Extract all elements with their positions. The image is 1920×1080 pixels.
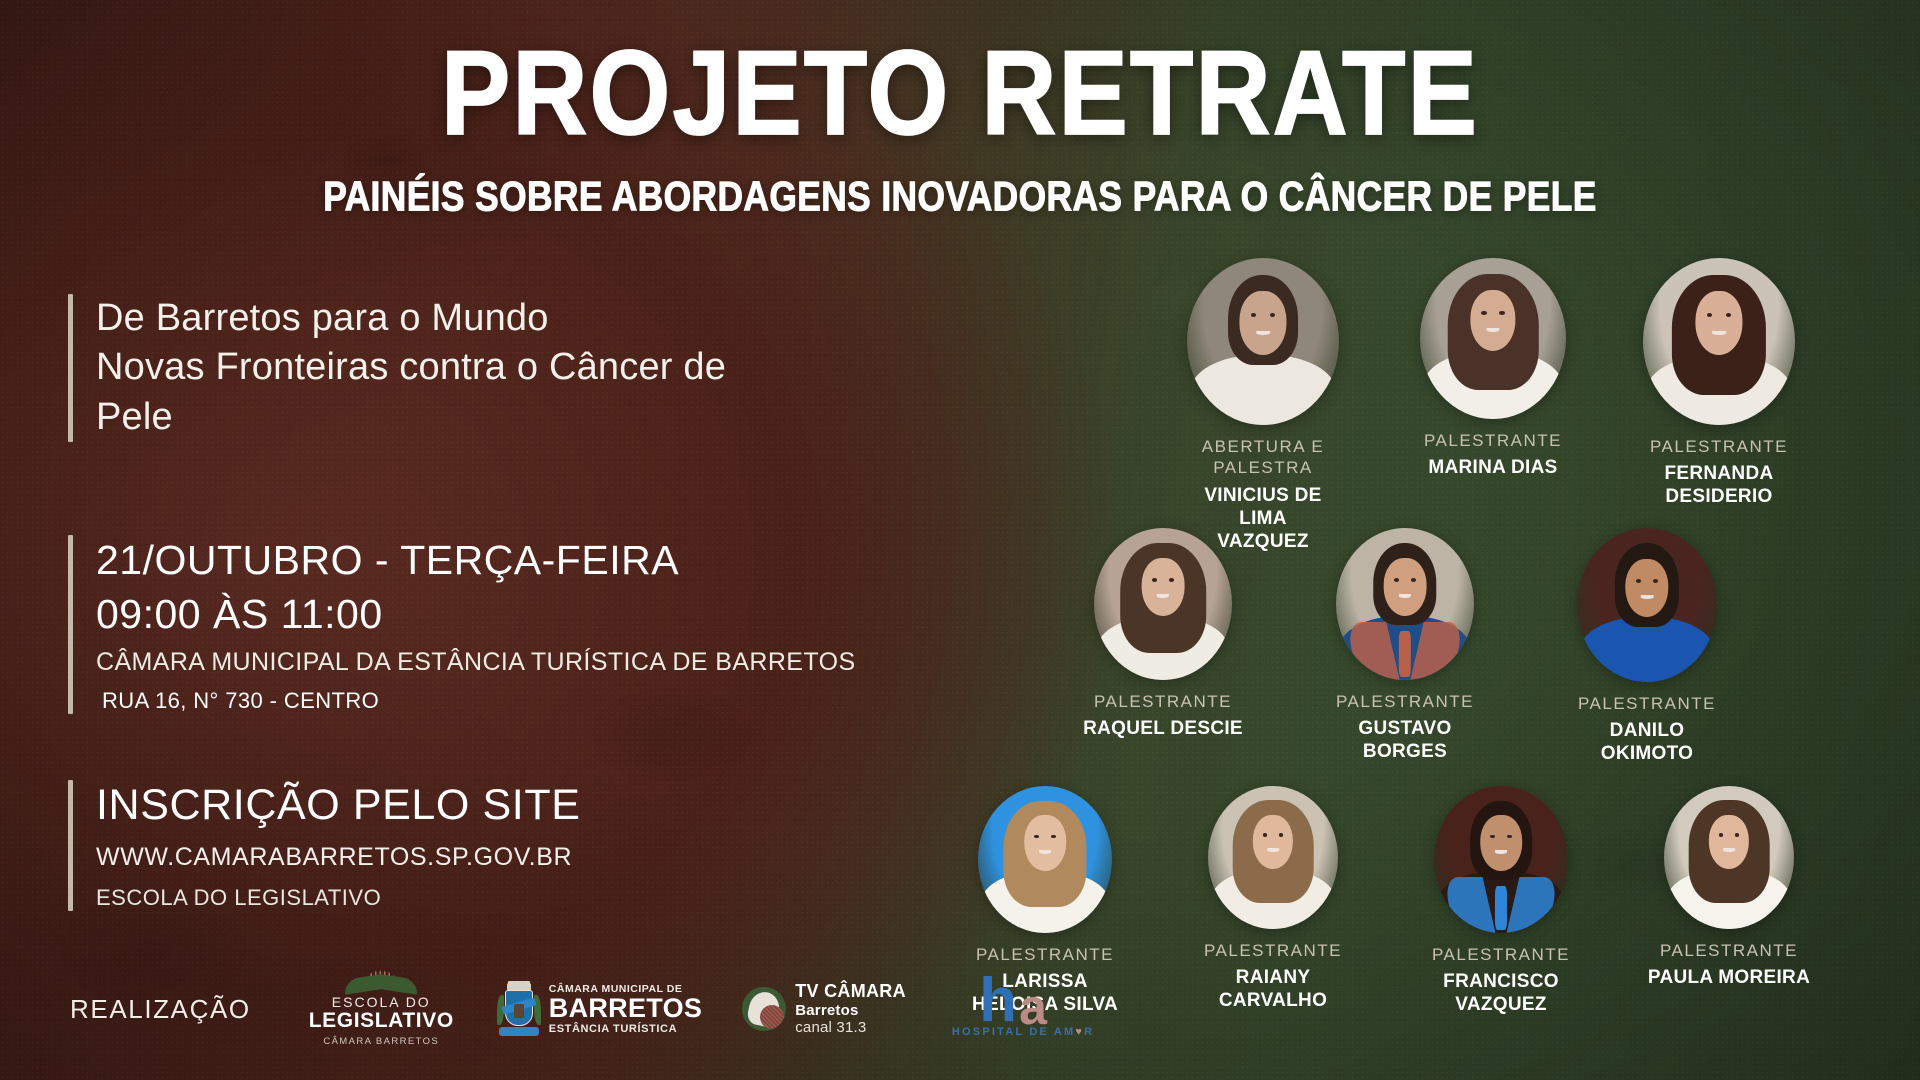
speaker-card: PALESTRANTEPAULA MOREIRA [1644, 786, 1814, 1017]
registration-block: INSCRIÇÃO PELO SITE WWW.CAMARABARRETOS.S… [68, 780, 788, 911]
sponsor-footer: REALIZAÇÃO ESCOLA DO LEGISLATIVO CÂMARA … [70, 972, 1094, 1047]
speaker-name: DANILO OKIMOTO [1562, 719, 1732, 765]
theme-line-1: De Barretos para o Mundo [96, 294, 828, 343]
speaker-photo [1643, 258, 1795, 425]
speaker-photo [1208, 786, 1338, 929]
speaker-card: PALESTRANTEFERNANDA DESIDERIO [1634, 258, 1804, 553]
speaker-name: RAQUEL DESCIE [1083, 717, 1243, 740]
speaker-photo [1664, 786, 1794, 929]
schedule-block: 21/OUTUBRO - TERÇA-FEIRA 09:00 ÀS 11:00 … [68, 535, 868, 714]
accent-rule-schedule [68, 535, 73, 714]
speaker-photo [1577, 528, 1717, 682]
registration-heading: INSCRIÇÃO PELO SITE [96, 780, 788, 831]
theme-line-2: Novas Fronteiras contra o Câncer de [96, 343, 828, 392]
accent-rule-theme [68, 294, 73, 442]
speaker-name: GUSTAVO BORGES [1320, 717, 1490, 763]
theme-line-3: Pele [96, 393, 828, 442]
info-column: De Barretos para o Mundo Novas Fronteira… [0, 0, 900, 1080]
tv-camara-mark-icon [742, 987, 786, 1031]
realizacao-label: REALIZAÇÃO [70, 994, 251, 1025]
logo-escola-do-legislativo: ESCOLA DO LEGISLATIVO CÂMARA BARRETOS [309, 972, 454, 1047]
speaker-name: MARINA DIAS [1428, 456, 1557, 479]
tv-line-1: TV CÂMARA [795, 982, 906, 1001]
speaker-role-label: PALESTRANTE [1578, 693, 1716, 714]
escola-line-2: LEGISLATIVO [309, 1010, 454, 1032]
speaker-card: PALESTRANTEMARINA DIAS [1408, 258, 1578, 553]
heart-icon: ♥ [1075, 1026, 1084, 1038]
speaker-photo [1094, 528, 1232, 680]
theme-block: De Barretos para o Mundo Novas Fronteira… [68, 294, 828, 442]
speaker-role-label: PALESTRANTE [1660, 940, 1798, 961]
speaker-photo [1420, 258, 1566, 419]
speaker-role-label: PALESTRANTE [1336, 691, 1474, 712]
accent-rule-registration [68, 780, 73, 911]
speaker-name: RAIANY CARVALHO [1188, 966, 1358, 1012]
speaker-row: PALESTRANTERAQUEL DESCIE PALESTRANTEGUST… [1078, 528, 1732, 766]
speaker-card: PALESTRANTERAQUEL DESCIE [1078, 528, 1248, 766]
escola-line-1: ESCOLA DO [332, 995, 431, 1010]
escola-line-3: CÂMARA BARRETOS [323, 1036, 439, 1047]
event-venue: CÂMARA MUNICIPAL DA ESTÂNCIA TURÍSTICA D… [96, 648, 868, 677]
speaker-role-label: PALESTRANTE [976, 944, 1114, 965]
speaker-name: PAULA MOREIRA [1648, 966, 1810, 989]
speaker-role-label: PALESTRANTE [1650, 436, 1788, 457]
ha-letter-a: a [1019, 986, 1047, 1028]
speaker-card: PALESTRANTEFRANCISCO VAZQUEZ [1416, 786, 1586, 1017]
open-book-icon [345, 972, 417, 992]
speaker-role-label: ABERTURA E PALESTRA [1178, 436, 1348, 479]
logo-hospital-de-amor: h a HOSPITAL DE AM♥R [952, 980, 1094, 1038]
speaker-photo [978, 786, 1112, 933]
speaker-role-label: PALESTRANTE [1204, 940, 1342, 961]
ha-monogram-icon: h a [977, 980, 1069, 1028]
speaker-photo [1187, 258, 1339, 425]
speaker-role-label: PALESTRANTE [1432, 944, 1570, 965]
speaker-photo [1336, 528, 1474, 680]
tv-line-3: canal 31.3 [795, 1019, 906, 1036]
logo-camara-municipal-barretos: CÂMARA MUNICIPAL DE BARRETOS ESTÂNCIA TU… [498, 983, 702, 1035]
logo-tv-camara: TV CÂMARA Barretos canal 31.3 [742, 982, 906, 1036]
speaker-name: FRANCISCO VAZQUEZ [1416, 970, 1586, 1016]
ha-wordmark-after: R [1084, 1026, 1094, 1038]
speaker-row: ABERTURA E PALESTRAVINICIUS DE LIMA VAZQ… [1178, 258, 1804, 553]
camara-line-2: BARRETOS [549, 995, 702, 1023]
tv-line-2: Barretos [795, 1002, 906, 1019]
speaker-card: PALESTRANTEDANILO OKIMOTO [1562, 528, 1732, 766]
ha-letter-h: h [979, 978, 1017, 1024]
speaker-photo [1434, 786, 1568, 933]
event-address: RUA 16, N° 730 - CENTRO [96, 688, 868, 714]
event-date: 21/OUTUBRO - TERÇA-FEIRA [96, 535, 868, 585]
coat-of-arms-icon [498, 983, 540, 1035]
registration-url[interactable]: WWW.CAMARABARRETOS.SP.GOV.BR [96, 843, 788, 872]
registration-organizer: ESCOLA DO LEGISLATIVO [96, 885, 788, 911]
speaker-card: ABERTURA E PALESTRAVINICIUS DE LIMA VAZQ… [1178, 258, 1348, 553]
speaker-name: FERNANDA DESIDERIO [1634, 462, 1804, 508]
speakers-grid: ABERTURA E PALESTRAVINICIUS DE LIMA VAZQ… [960, 0, 1920, 1080]
speaker-role-label: PALESTRANTE [1424, 430, 1562, 451]
event-time: 09:00 ÀS 11:00 [96, 589, 868, 640]
camara-line-3: ESTÂNCIA TURÍSTICA [549, 1023, 702, 1036]
speaker-card: PALESTRANTERAIANY CARVALHO [1188, 786, 1358, 1017]
speaker-role-label: PALESTRANTE [1094, 691, 1232, 712]
event-poster: PROJETO RETRATE PAINÉIS SOBRE ABORDAGENS… [0, 0, 1920, 1080]
speaker-card: PALESTRANTEGUSTAVO BORGES [1320, 528, 1490, 766]
